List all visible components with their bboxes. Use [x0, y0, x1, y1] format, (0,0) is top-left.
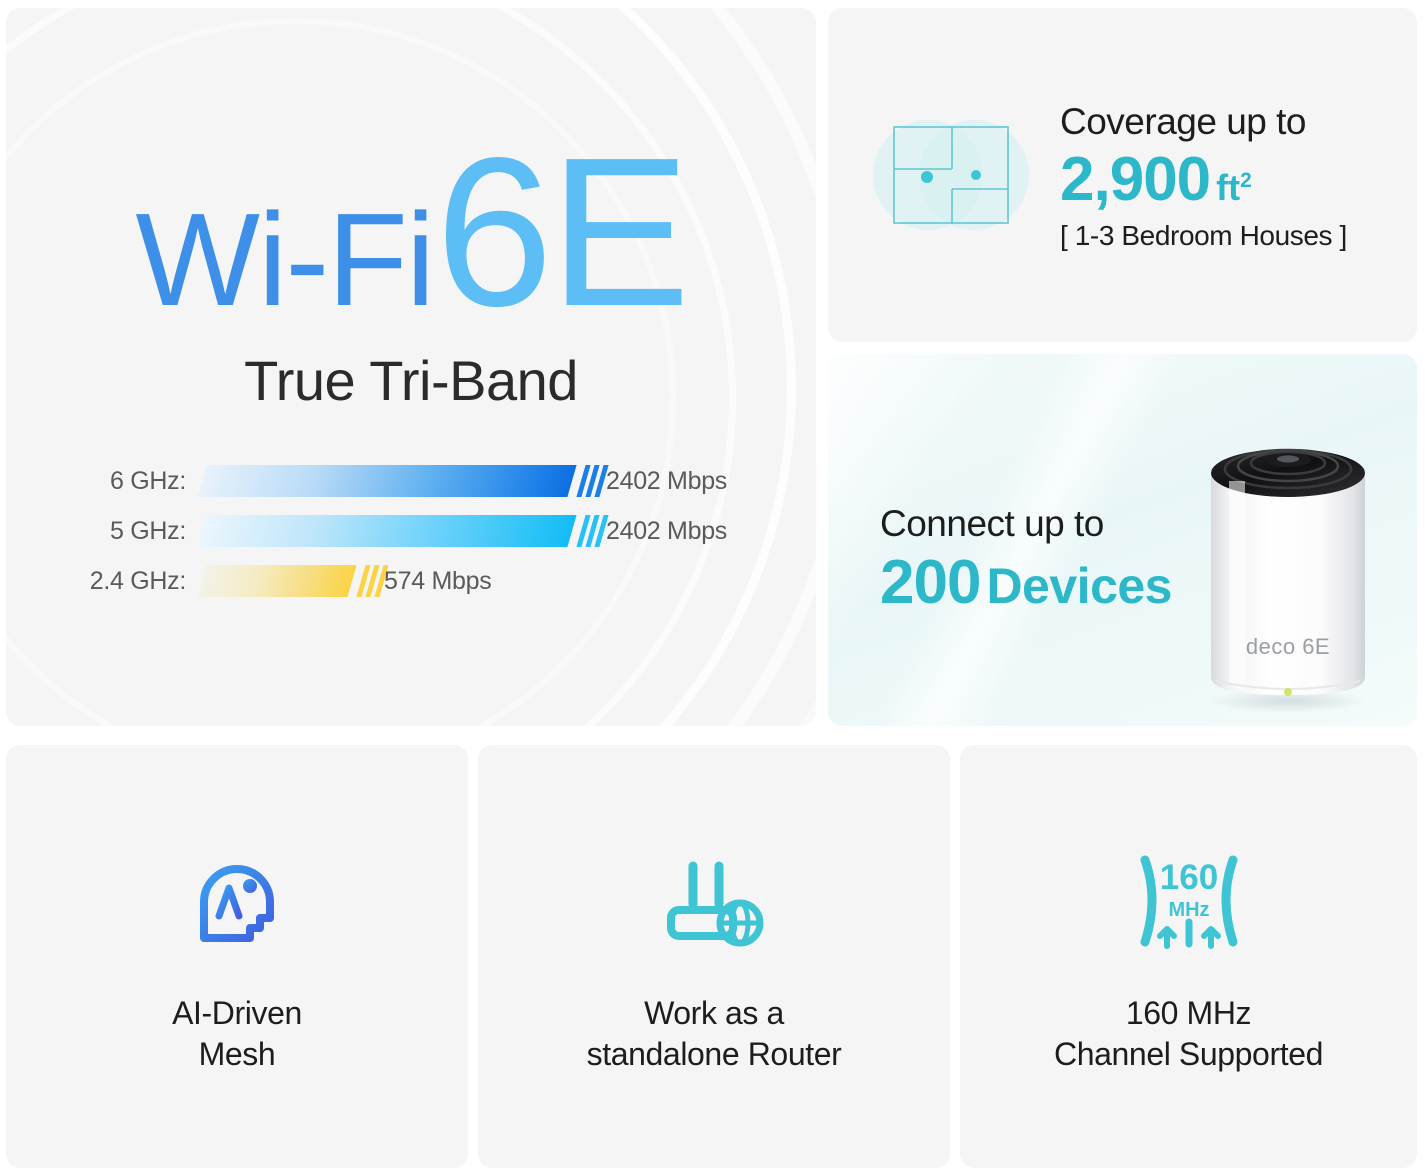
band-row: 2.4 GHz:574 Mbps: [6, 556, 816, 606]
feature-card-160mhz: 160 MHz 160 MHzChannel Supported: [960, 745, 1417, 1168]
band-label: 5 GHz:: [6, 517, 186, 546]
band-tick-marks: [581, 465, 604, 497]
router-globe-icon: [654, 839, 774, 959]
floor-plan-coverage-icon: [866, 105, 1036, 245]
feature-label: Work as astandalone Router: [587, 993, 842, 1075]
router-brand-text: deco 6E: [1246, 634, 1330, 659]
deco-router-image: deco 6E: [1183, 429, 1393, 714]
band-label: 2.4 GHz:: [6, 567, 186, 596]
connect-number: 200: [880, 548, 980, 617]
coverage-unit-exponent: 2: [1240, 169, 1252, 192]
mhz-number-text: 160: [1159, 858, 1217, 897]
coverage-note: [ 1-3 Bedroom Houses ]: [1060, 220, 1347, 252]
ai-head-icon: [177, 839, 297, 959]
band-bar: [197, 515, 576, 547]
connect-caption: Connect up to: [880, 504, 1172, 545]
band-value: 574 Mbps: [384, 567, 491, 596]
channel-160mhz-icon: 160 MHz: [1129, 839, 1249, 959]
band-label: 6 GHz:: [6, 467, 186, 496]
band-speed-list: 6 GHz:2402 Mbps5 GHz:2402 Mbps2.4 GHz:57…: [6, 456, 816, 606]
feature-label: AI-DrivenMesh: [172, 993, 302, 1075]
band-bar-wrap: [202, 515, 604, 547]
coverage-value-row: 2,900ft2: [1060, 149, 1347, 211]
band-row: 6 GHz:2402 Mbps: [6, 456, 816, 506]
wifi-hero-card: Wi-Fi6E True Tri-Band 6 GHz:2402 Mbps5 G…: [6, 8, 816, 726]
connect-word: Devices: [986, 558, 1172, 614]
band-value: 2402 Mbps: [606, 517, 727, 546]
tri-band-subtitle: True Tri-Band: [6, 348, 816, 413]
band-bar-wrap: [202, 465, 604, 497]
feature-label: 160 MHzChannel Supported: [1054, 993, 1323, 1075]
band-bar-wrap: [202, 565, 384, 597]
coverage-number: 2,900: [1060, 145, 1210, 214]
band-tick-marks: [361, 565, 384, 597]
wifi-word: Wi-Fi: [135, 186, 433, 333]
coverage-card: Coverage up to 2,900ft2 [ 1-3 Bedroom Ho…: [828, 8, 1417, 342]
coverage-unit-text: ft: [1216, 167, 1240, 208]
connect-devices-card: Connect up to 200Devices: [828, 354, 1417, 726]
feature-card-ai-mesh: AI-DrivenMesh: [6, 745, 468, 1168]
coverage-unit: ft2: [1216, 167, 1252, 208]
product-infographic: Wi-Fi6E True Tri-Band 6 GHz:2402 Mbps5 G…: [0, 0, 1425, 1176]
wifi-title: Wi-Fi6E: [6, 126, 816, 338]
feature-card-standalone-router: Work as astandalone Router: [478, 745, 950, 1168]
band-row: 5 GHz:2402 Mbps: [6, 506, 816, 556]
band-value: 2402 Mbps: [606, 467, 727, 496]
band-tick-marks: [581, 515, 604, 547]
band-bar: [197, 465, 576, 497]
wifi-generation: 6E: [435, 113, 686, 350]
band-bar: [197, 565, 356, 597]
connect-value-row: 200Devices: [880, 552, 1172, 614]
coverage-caption: Coverage up to: [1060, 102, 1347, 143]
mhz-unit-text: MHz: [1168, 899, 1209, 921]
